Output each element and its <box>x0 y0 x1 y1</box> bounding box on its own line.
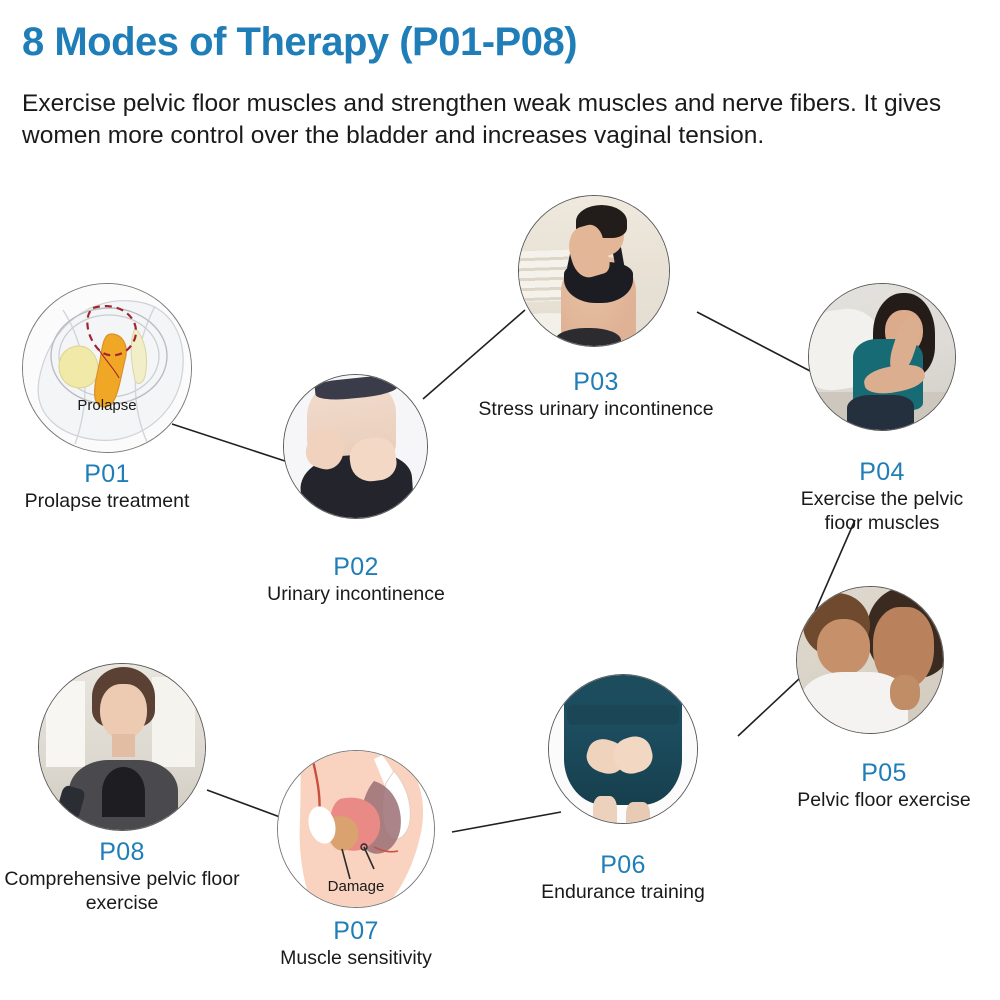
mode-desc-p04: Exercise the pelvic fioor muscles <box>790 487 974 535</box>
photo-mother-and-baby-icon <box>797 587 943 733</box>
photo-woman-distressed-icon <box>519 196 669 346</box>
mode-node-p04[interactable]: P04 Exercise the pelvic fioor muscles <box>808 283 956 431</box>
mode-media-p08 <box>38 663 206 831</box>
mode-media-p05 <box>796 586 944 734</box>
mode-desc-p08: Comprehensive pelvic floor exercise <box>4 867 240 915</box>
mode-media-p06 <box>548 674 698 824</box>
connector-p05-p06 <box>738 678 800 736</box>
infographic-page: 8 Modes of Therapy (P01-P08) Exercise pe… <box>0 0 1000 1000</box>
mode-caption-p08: P08 Comprehensive pelvic floor exercise <box>4 837 240 915</box>
mode-media-p04 <box>808 283 956 431</box>
mode-media-p03 <box>518 195 670 347</box>
mode-desc-p01: Prolapse treatment <box>0 489 214 513</box>
mode-code-p08: P08 <box>4 837 240 867</box>
photo-woman-teal-dress-icon <box>549 675 697 823</box>
mode-node-p08[interactable]: P08 Comprehensive pelvic floor exercise <box>38 663 206 831</box>
mode-desc-p05: Pelvic floor exercise <box>788 788 980 812</box>
mode-inner-label-p07: Damage <box>278 878 434 895</box>
mode-caption-p07: P07 Muscle sensitivity <box>243 916 469 970</box>
mode-code-p07: P07 <box>243 916 469 946</box>
mode-media-p02 <box>283 374 428 519</box>
mode-media-p07: Damage <box>277 750 435 908</box>
mode-media-p01: Prolapse <box>22 283 192 453</box>
mode-code-p02: P02 <box>217 552 495 582</box>
connector-p07-p08 <box>207 790 288 820</box>
illustration-prolapse-icon <box>23 284 192 453</box>
mode-desc-p07: Muscle sensitivity <box>243 946 469 970</box>
connector-p03-p04 <box>697 312 812 372</box>
connector-p06-p07 <box>452 812 561 832</box>
mode-code-p01: P01 <box>0 459 214 489</box>
mode-node-p03[interactable]: P03 Stress urinary incontinence <box>518 195 670 347</box>
mode-node-p01[interactable]: Prolapse P01 Prolapse treatment <box>22 283 192 453</box>
mode-node-p02[interactable]: P02 Urinary incontinence <box>283 374 428 519</box>
mode-code-p06: P06 <box>520 850 726 880</box>
mode-inner-label-p01: Prolapse <box>23 397 191 414</box>
mode-code-p04: P04 <box>790 457 974 487</box>
photo-woman-teal-shirt-icon <box>809 284 955 430</box>
mode-caption-p04: P04 Exercise the pelvic fioor muscles <box>790 457 974 535</box>
mode-desc-p06: Endurance training <box>520 880 726 904</box>
mode-caption-p03: P03 Stress urinary incontinence <box>476 367 716 421</box>
mode-caption-p05: P05 Pelvic floor exercise <box>788 758 980 812</box>
mode-code-p03: P03 <box>476 367 716 397</box>
mode-caption-p01: P01 Prolapse treatment <box>0 459 214 513</box>
mode-desc-p03: Stress urinary incontinence <box>476 397 716 421</box>
mode-node-p06[interactable]: P06 Endurance training <box>548 674 698 824</box>
mode-caption-p06: P06 Endurance training <box>520 850 726 904</box>
mode-desc-p02: Urinary incontinence <box>217 582 495 606</box>
photo-woman-holding-hips-icon <box>284 375 427 518</box>
mode-node-p07[interactable]: Damage P07 Muscle sensitivity <box>277 750 435 908</box>
mode-code-p05: P05 <box>788 758 980 788</box>
mode-node-p05[interactable]: P05 Pelvic floor exercise <box>796 586 944 734</box>
photo-smiling-woman-icon <box>39 664 205 830</box>
mode-caption-p02: P02 Urinary incontinence <box>217 552 495 606</box>
